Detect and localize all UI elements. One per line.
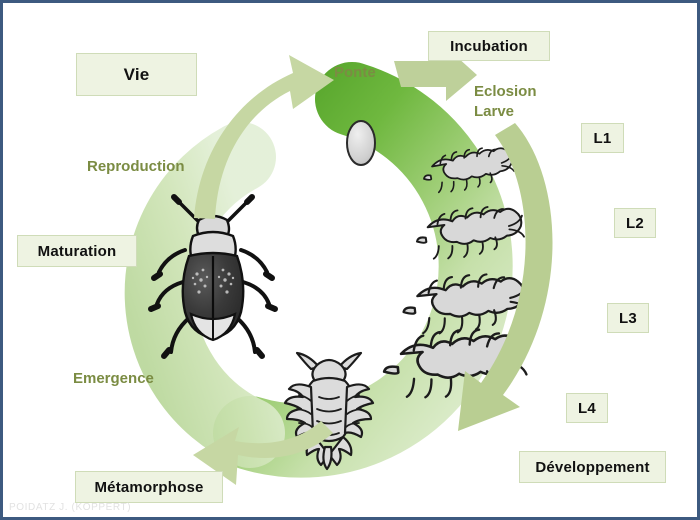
arrow-reproduction-icon xyxy=(194,55,334,219)
label-box-incubation: Incubation xyxy=(428,31,550,61)
label-box-l2: L2 xyxy=(614,208,656,238)
label-box-maturation: Maturation xyxy=(17,235,137,267)
larva-1-icon xyxy=(420,143,516,197)
label-box-l3: L3 xyxy=(607,303,649,333)
larva-4-icon xyxy=(381,325,529,402)
label-box-metamorphose: Métamorphose xyxy=(75,471,223,503)
beetle-icon xyxy=(151,197,275,356)
watermark-credit: POIDATZ J. (KOPPERT) xyxy=(9,502,131,513)
stage-label-reproduction: Reproduction xyxy=(87,157,185,177)
label-box-developpement: Développement xyxy=(519,451,666,483)
stage-label-ponte: Ponte xyxy=(334,63,376,83)
stage-label-emergence: Emergence xyxy=(73,369,154,389)
egg-icon xyxy=(347,121,375,165)
arrow-development-icon xyxy=(458,123,553,431)
pupa-icon xyxy=(285,353,373,469)
stage-label-eclosion-larve: Eclosion Larve xyxy=(474,82,537,123)
label-box-l1: L1 xyxy=(581,123,624,153)
label-box-l4: L4 xyxy=(566,393,608,423)
larva-3-icon xyxy=(400,269,530,337)
cycle-ring xyxy=(160,99,476,441)
label-box-vie: Vie xyxy=(76,53,197,96)
larva-2-icon xyxy=(413,202,526,264)
lifecycle-diagram: Vie Incubation Maturation Métamorphose D… xyxy=(0,0,700,520)
